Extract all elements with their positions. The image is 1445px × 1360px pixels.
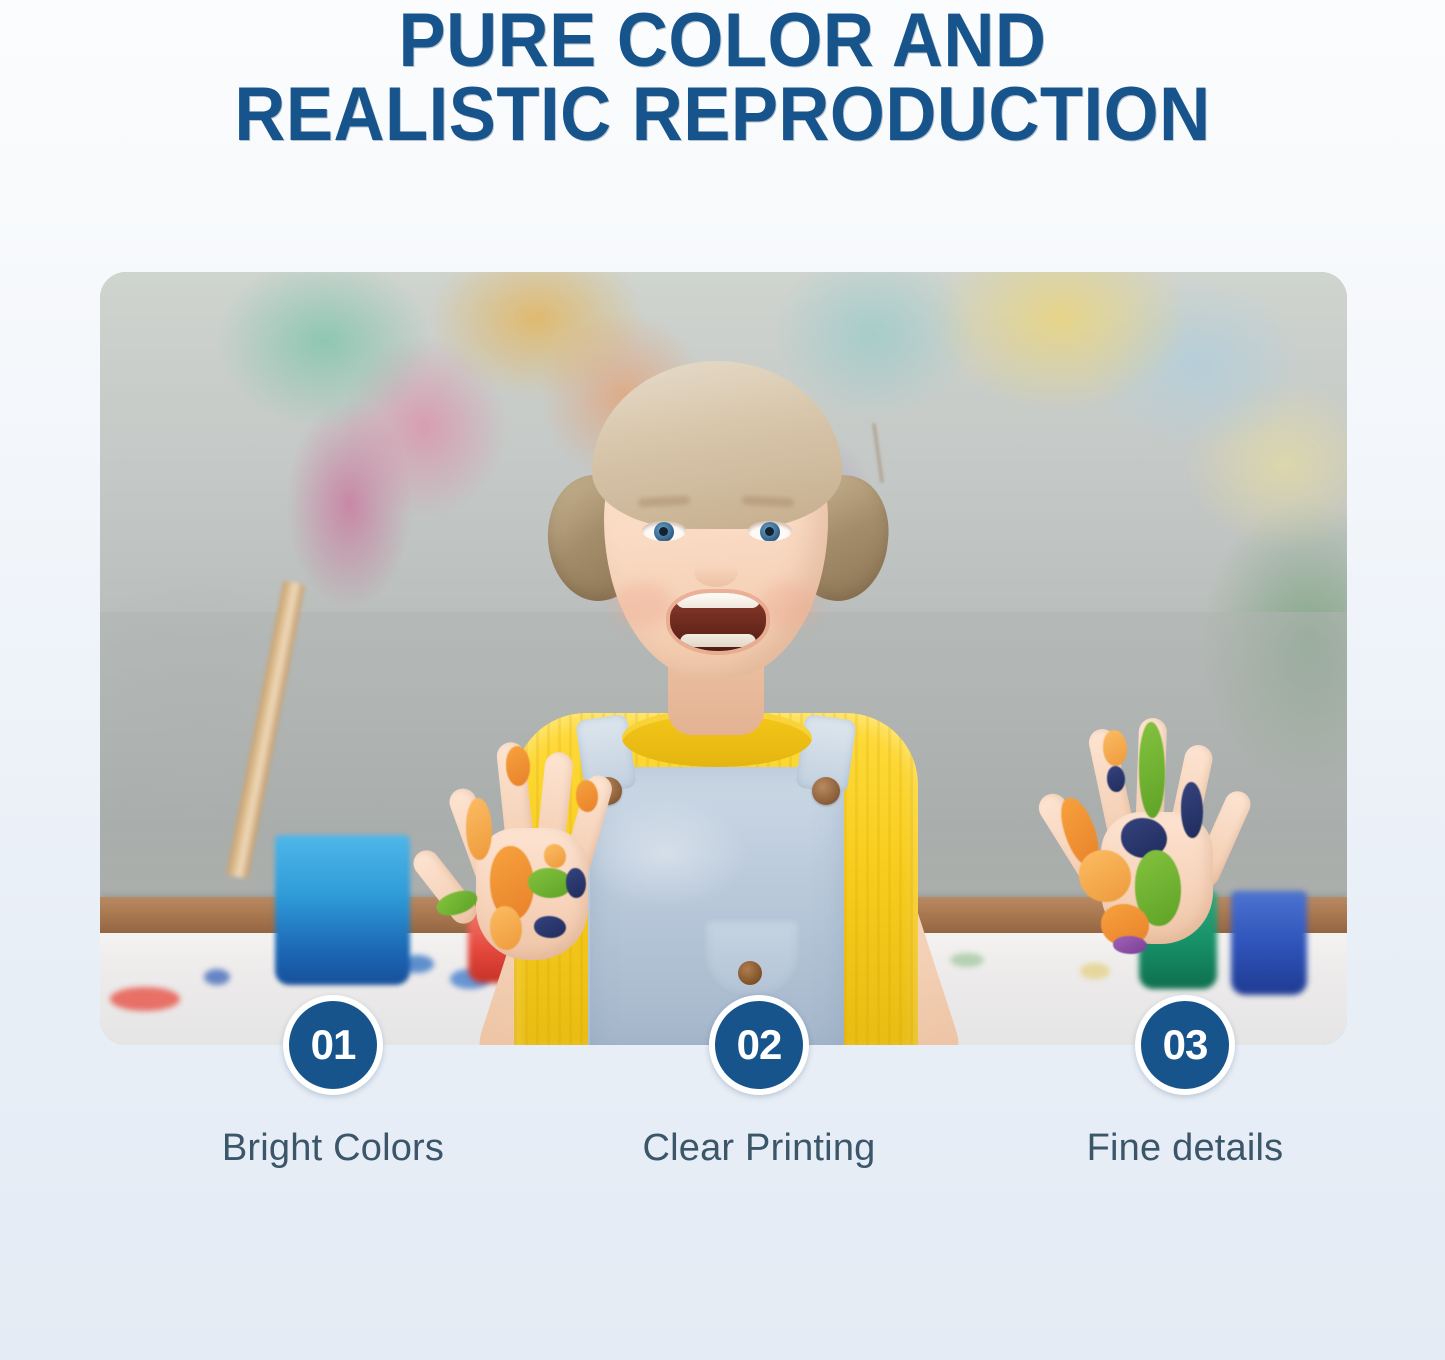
headline-line-2: REALISTIC REPRODUCTION <box>51 78 1395 152</box>
feature-step-03[interactable]: 03 Fine details <box>1055 995 1315 1170</box>
navy-paint-smear <box>1107 766 1125 792</box>
orange-paint-smear <box>506 746 530 786</box>
painted-hand-right <box>1055 704 1255 964</box>
paint-splotch <box>204 969 230 985</box>
overalls-button <box>738 961 762 985</box>
cheek-right <box>760 583 818 627</box>
eye-left <box>642 521 686 541</box>
orange-paint-smear <box>466 798 492 860</box>
hero-photo <box>100 272 1347 1045</box>
paint-splotch <box>110 987 180 1011</box>
paint-splotch <box>1080 963 1110 979</box>
lower-teeth <box>680 634 756 647</box>
step-badge-01[interactable]: 01 <box>283 995 383 1095</box>
nose <box>694 557 738 587</box>
purple-paint-smear <box>1113 936 1147 954</box>
navy-paint-smear <box>534 916 566 938</box>
page-title: PURE COLOR AND REALISTIC REPRODUCTION <box>0 0 1445 151</box>
upper-teeth <box>676 593 760 608</box>
overalls-pocket <box>704 919 800 997</box>
open-smiling-mouth <box>670 593 766 651</box>
hair-part <box>871 423 883 483</box>
painted-hand-left <box>430 720 630 980</box>
eye-right <box>748 521 792 541</box>
step-badge-03[interactable]: 03 <box>1135 995 1235 1095</box>
orange-paint-smear <box>576 780 598 812</box>
iris-right <box>760 522 780 541</box>
step-label-02: Clear Printing <box>629 1127 889 1170</box>
orange-paint-smear <box>1079 850 1131 902</box>
blue-paint-cup <box>275 835 410 985</box>
navy-paint-smear <box>1181 782 1203 838</box>
step-number-02: 02 <box>737 1024 782 1066</box>
step-number-01: 01 <box>311 1024 356 1066</box>
overalls-clip-right <box>812 777 840 805</box>
feature-step-02[interactable]: 02 Clear Printing <box>629 995 889 1170</box>
orange-paint-smear <box>490 906 522 950</box>
step-label-01: Bright Colors <box>203 1127 463 1170</box>
orange-paint-smear <box>1103 730 1127 766</box>
headline-line-1: PURE COLOR AND <box>51 4 1395 78</box>
feature-step-01[interactable]: 01 Bright Colors <box>203 995 463 1170</box>
orange-paint-smear <box>544 844 566 868</box>
cheek-left <box>614 583 672 627</box>
step-label-03: Fine details <box>1055 1127 1315 1170</box>
green-paint-smear <box>1139 722 1165 818</box>
step-number-03: 03 <box>1163 1024 1208 1066</box>
hair <box>592 361 842 529</box>
step-badge-02[interactable]: 02 <box>709 995 809 1095</box>
iris-left <box>654 522 674 541</box>
navy-paint-smear <box>566 868 586 898</box>
